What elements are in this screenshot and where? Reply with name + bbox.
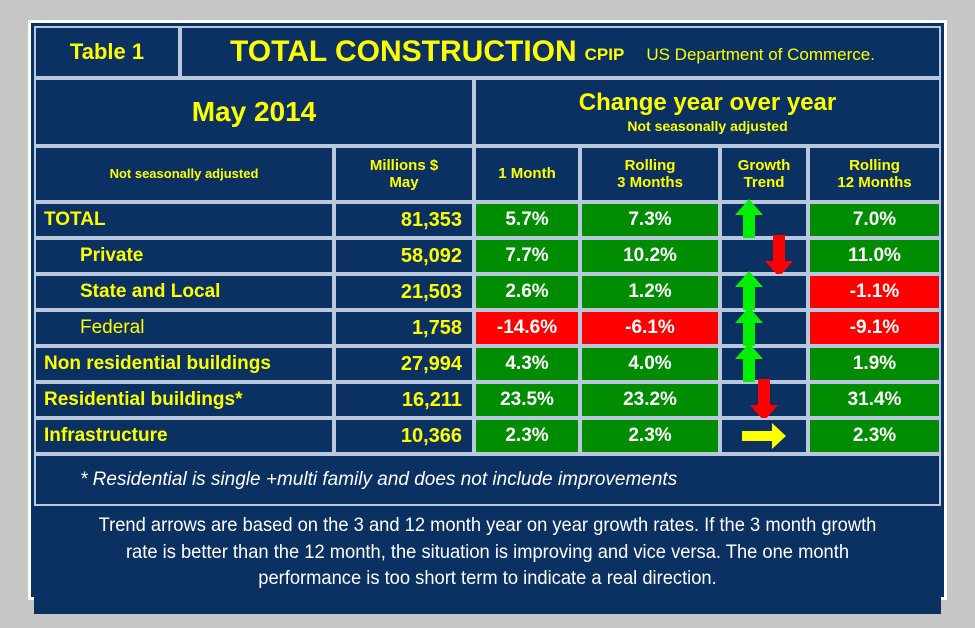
row-label: TOTAL (44, 209, 106, 231)
table-label: Table 1 (70, 39, 144, 65)
row-1month-cell: -14.6% (474, 310, 580, 346)
table-inner: Table 1 TOTAL CONSTRUCTION CPIP US Depar… (34, 26, 941, 594)
row-value-cell: 58,092 (334, 238, 474, 274)
table-row: State and Local21,5032.6%1.2%-1.1% (34, 274, 941, 310)
row-label-cell: TOTAL (34, 202, 334, 238)
column-header-value-line1: Millions $ (370, 157, 438, 174)
column-header-label: Not seasonally adjusted (34, 146, 334, 202)
row-3months: 2.3% (628, 425, 671, 447)
row-12months: 31.4% (848, 389, 902, 411)
row-value: 21,503 (401, 281, 462, 304)
footnote-text: * Residential is single +multi family an… (80, 469, 677, 491)
row-label: Private (80, 245, 143, 267)
row-value-cell: 81,353 (334, 202, 474, 238)
row-3months-cell: 2.3% (580, 418, 720, 454)
row-1month: 2.6% (505, 281, 548, 303)
table-row: TOTAL81,3535.7%7.3%7.0% (34, 202, 941, 238)
row-12months-cell: 7.0% (808, 202, 941, 238)
row-12months-cell: 31.4% (808, 382, 941, 418)
footnote-cell: * Residential is single +multi family an… (34, 454, 941, 506)
column-header-growth-trend: Growth Trend (720, 146, 808, 202)
row-label-cell: Private (34, 238, 334, 274)
column-header-12months-line2: 12 Months (837, 174, 911, 191)
row-12months-cell: 1.9% (808, 346, 941, 382)
period-label: May 2014 (192, 96, 317, 128)
row-12months-cell: -1.1% (808, 274, 941, 310)
row-3months-cell: -6.1% (580, 310, 720, 346)
table-row: Residential buildings*16,21123.5%23.2%31… (34, 382, 941, 418)
row-value: 10,366 (401, 425, 462, 448)
row-label: Non residential buildings (44, 353, 271, 375)
title-cell: TOTAL CONSTRUCTION CPIP US Department of… (180, 26, 941, 78)
banner-row: May 2014 Change year over year Not seaso… (34, 78, 941, 146)
row-1month-cell: 2.3% (474, 418, 580, 454)
title-source: US Department of Commerce. (646, 45, 875, 65)
row-value-cell: 16,211 (334, 382, 474, 418)
column-header-label-text: Not seasonally adjusted (110, 167, 259, 182)
change-title: Change year over year (579, 90, 836, 115)
row-label-cell: State and Local (34, 274, 334, 310)
row-label: Federal (80, 317, 144, 339)
row-3months: 10.2% (623, 245, 677, 267)
page-title: TOTAL CONSTRUCTION (230, 37, 577, 67)
row-3months-cell: 10.2% (580, 238, 720, 274)
explanation-cell: Trend arrows are based on the 3 and 12 m… (34, 506, 941, 614)
row-12months-cell: -9.1% (808, 310, 941, 346)
row-3months: 7.3% (628, 209, 671, 231)
row-12months-cell: 2.3% (808, 418, 941, 454)
row-1month: 7.7% (505, 245, 548, 267)
column-header-trend-line2: Trend (744, 174, 785, 191)
row-12months: 2.3% (853, 425, 896, 447)
trend-arrow (762, 233, 796, 279)
explanation-row: Trend arrows are based on the 3 and 12 m… (34, 506, 941, 614)
arrow-right-icon (741, 421, 787, 451)
construction-table: Table 1 TOTAL CONSTRUCTION CPIP US Depar… (28, 20, 947, 600)
table-row: Private58,0927.7%10.2%11.0% (34, 238, 941, 274)
column-header-3months-line2: 3 Months (617, 174, 683, 191)
column-header-3months: Rolling 3 Months (580, 146, 720, 202)
row-value: 16,211 (402, 389, 462, 412)
column-header-value: Millions $ May (334, 146, 474, 202)
row-value: 58,092 (401, 245, 462, 268)
column-header-12months-line1: Rolling (849, 157, 900, 174)
footnote-row: * Residential is single +multi family an… (34, 454, 941, 506)
row-1month: 4.3% (505, 353, 548, 375)
row-value: 1,758 (412, 317, 462, 340)
row-3months: 1.2% (628, 281, 671, 303)
row-1month: -14.6% (497, 317, 557, 339)
column-header-12months: Rolling 12 Months (808, 146, 941, 202)
column-header-trend-line1: Growth (738, 157, 791, 174)
row-12months-cell: 11.0% (808, 238, 941, 274)
row-1month-cell: 2.6% (474, 274, 580, 310)
row-1month-cell: 4.3% (474, 346, 580, 382)
column-header-3months-line1: Rolling (625, 157, 676, 174)
row-1month: 2.3% (505, 425, 548, 447)
row-3months: 23.2% (623, 389, 677, 411)
table-label-cell: Table 1 (34, 26, 180, 78)
row-3months: -6.1% (625, 317, 675, 339)
row-label-cell: Residential buildings* (34, 382, 334, 418)
row-value-cell: 27,994 (334, 346, 474, 382)
row-12months: -9.1% (850, 317, 900, 339)
row-3months-cell: 1.2% (580, 274, 720, 310)
row-12months: -1.1% (850, 281, 900, 303)
trend-arrow (732, 197, 766, 243)
row-1month-cell: 23.5% (474, 382, 580, 418)
explanation-text: Trend arrows are based on the 3 and 12 m… (82, 512, 893, 592)
row-1month: 23.5% (500, 389, 554, 411)
column-header-row: Not seasonally adjusted Millions $ May 1… (34, 146, 941, 202)
row-label-cell: Federal (34, 310, 334, 346)
row-3months-cell: 7.3% (580, 202, 720, 238)
row-value-cell: 10,366 (334, 418, 474, 454)
row-value: 27,994 (401, 353, 462, 376)
row-12months: 7.0% (853, 209, 896, 231)
arrow-up-icon (734, 198, 764, 242)
row-3months-cell: 23.2% (580, 382, 720, 418)
trend-arrow (747, 413, 781, 459)
table-row: Federal1,758-14.6%-6.1%-9.1% (34, 310, 941, 346)
row-label-cell: Non residential buildings (34, 346, 334, 382)
row-label: State and Local (80, 281, 220, 303)
table-row: Infrastructure10,3662.3%2.3%2.3% (34, 418, 941, 454)
title-program-code: CPIP (585, 45, 625, 65)
column-header-value-line2: May (389, 174, 418, 191)
row-3months: 4.0% (628, 353, 671, 375)
data-rows: TOTAL81,3535.7%7.3%7.0%Private58,0927.7%… (34, 202, 941, 454)
row-value: 81,353 (401, 209, 462, 232)
row-12months: 1.9% (853, 353, 896, 375)
period-cell: May 2014 (34, 78, 474, 146)
row-trend-cell (720, 418, 808, 454)
row-label: Residential buildings* (44, 389, 242, 411)
change-header-cell: Change year over year Not seasonally adj… (474, 78, 941, 146)
column-header-1month: 1 Month (474, 146, 580, 202)
row-3months-cell: 4.0% (580, 346, 720, 382)
row-label: Infrastructure (44, 425, 168, 447)
arrow-down-icon (764, 234, 794, 278)
row-1month-cell: 5.7% (474, 202, 580, 238)
row-1month-cell: 7.7% (474, 238, 580, 274)
table-row: Non residential buildings27,9944.3%4.0%1… (34, 346, 941, 382)
change-subtitle: Not seasonally adjusted (627, 118, 787, 134)
column-header-1month-line1: 1 Month (498, 165, 556, 182)
row-value-cell: 21,503 (334, 274, 474, 310)
row-label-cell: Infrastructure (34, 418, 334, 454)
row-value-cell: 1,758 (334, 310, 474, 346)
row-1month: 5.7% (505, 209, 548, 231)
row-12months: 11.0% (848, 245, 901, 267)
title-row: Table 1 TOTAL CONSTRUCTION CPIP US Depar… (34, 26, 941, 78)
